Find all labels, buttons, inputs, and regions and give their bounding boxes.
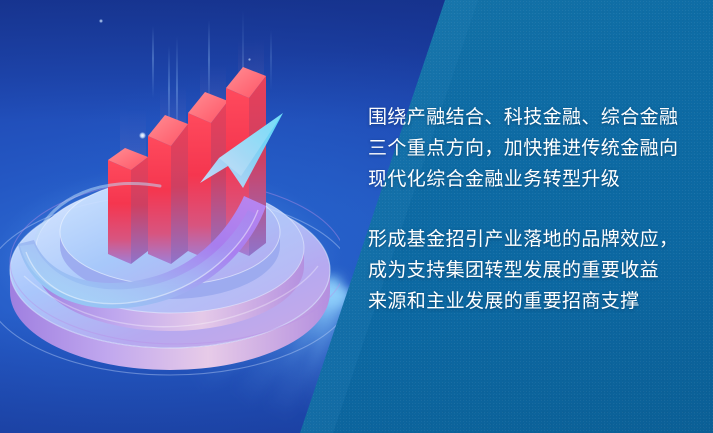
bar-1	[108, 148, 148, 264]
growth-chart-illustration	[0, 0, 340, 433]
paragraph-two: 形成基金招引产业落地的品牌效应， 成为支持集团转型发展的重要收益 来源和主业发展…	[368, 224, 698, 317]
text-column: 围绕产融结合、科技金融、综合金融 三个重点方向，加快推进传统金融向 现代化综合金…	[368, 102, 698, 317]
paragraph-one: 围绕产融结合、科技金融、综合金融 三个重点方向，加快推进传统金融向 现代化综合金…	[368, 102, 698, 195]
bar-2	[148, 115, 188, 264]
promo-banner: 围绕产融结合、科技金融、综合金融 三个重点方向，加快推进传统金融向 现代化综合金…	[0, 0, 713, 433]
